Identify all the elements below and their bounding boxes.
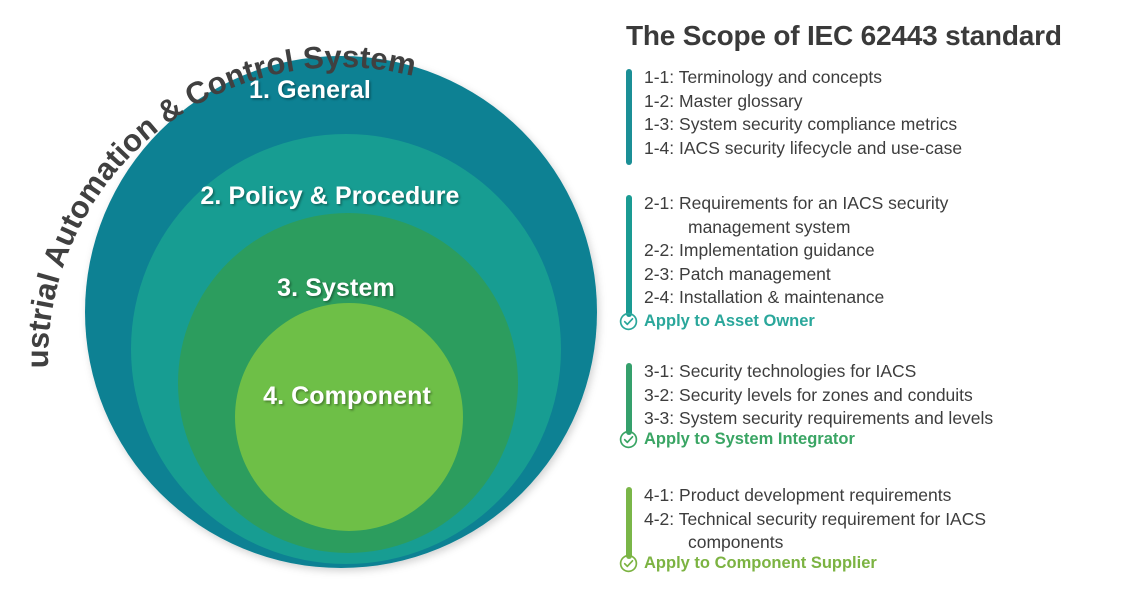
scope-list-panel: The Scope of IEC 62443 standard 1-1: Ter… [618,0,1133,601]
group-4-items: 4-1: Product development requirements 4-… [644,484,1126,555]
group-3-items: 3-1: Security technologies for IACS 3-2:… [644,360,1126,431]
scope-group-4: 4-1: Product development requirements 4-… [626,484,1126,555]
list-item: 3-2: Security levels for zones and condu… [644,384,1126,408]
apply-to-badge-component-supplier: Apply to Component Supplier [619,554,877,573]
list-item: 3-3: System security requirements and le… [644,407,1126,431]
ring-4-component [235,303,463,531]
list-item: 4-2: Technical security requirement for … [644,508,1126,532]
ring-2-label: 2. Policy & Procedure [0,182,660,211]
check-circle-icon [619,430,638,449]
apply-to-badge-system-integrator: Apply to System Integrator [619,430,855,449]
list-item: 4-1: Product development requirements [644,484,1126,508]
concentric-circles-diagram: Industrial Automation & Control System 1… [0,0,620,601]
check-circle-icon [619,312,638,331]
badge-label: Apply to Asset Owner [644,312,815,331]
group-2-accent-bar [626,195,632,317]
badge-label: Apply to System Integrator [644,430,855,449]
ring-4-label: 4. Component [0,382,694,411]
list-item: 1-4: IACS security lifecycle and use-cas… [644,137,1126,161]
group-1-items: 1-1: Terminology and concepts 1-2: Maste… [644,66,1126,160]
iec-62443-scope-diagram: Industrial Automation & Control System 1… [0,0,1133,601]
ring-3-label: 3. System [0,274,672,303]
ring-1-label: 1. General [0,76,620,105]
apply-to-badge-asset-owner: Apply to Asset Owner [619,312,815,331]
list-item-continuation: management system [644,216,1126,240]
group-4-accent-bar [626,487,632,559]
scope-group-2: 2-1: Requirements for an IACS security m… [626,192,1126,310]
check-circle-icon [619,554,638,573]
list-item: 1-2: Master glossary [644,90,1126,114]
list-item: 2-2: Implementation guidance [644,239,1126,263]
list-item-continuation: components [644,531,1126,555]
group-2-items: 2-1: Requirements for an IACS security m… [644,192,1126,310]
list-item: 3-1: Security technologies for IACS [644,360,1126,384]
list-item: 2-4: Installation & maintenance [644,286,1126,310]
group-3-accent-bar [626,363,632,435]
badge-label: Apply to Component Supplier [644,554,877,573]
scope-group-3: 3-1: Security technologies for IACS 3-2:… [626,360,1126,431]
list-item: 2-1: Requirements for an IACS security [644,192,1126,216]
list-item: 2-3: Patch management [644,263,1126,287]
list-item: 1-1: Terminology and concepts [644,66,1126,90]
scope-group-1: 1-1: Terminology and concepts 1-2: Maste… [626,66,1126,160]
list-item: 1-3: System security compliance metrics [644,113,1126,137]
panel-title: The Scope of IEC 62443 standard [626,20,1131,52]
group-1-accent-bar [626,69,632,165]
